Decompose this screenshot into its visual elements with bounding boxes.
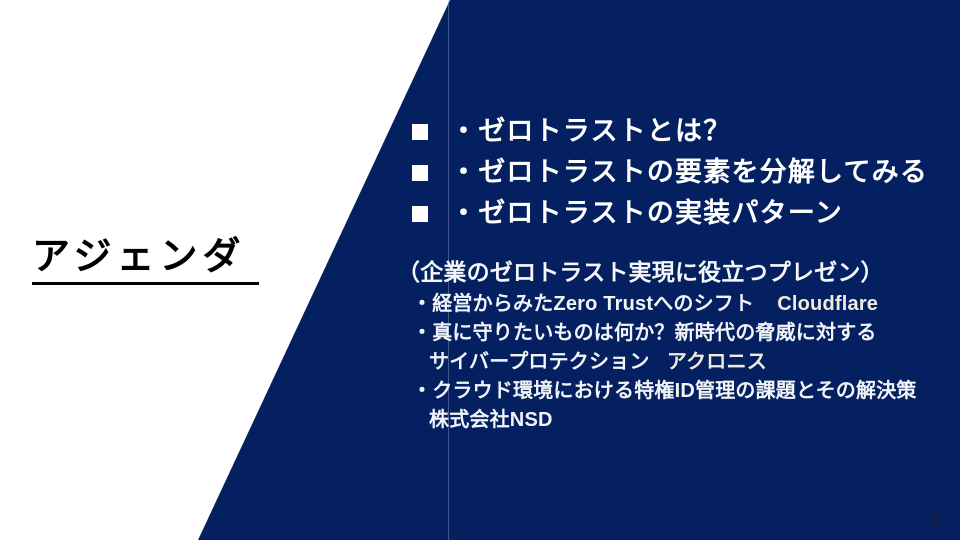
session-title-text: 株式会社NSD — [429, 409, 553, 431]
session-title-text: ・クラウド環境における特権ID管理の課題とその解決策 — [412, 380, 917, 402]
list-item-label: ・ゼロトラストとは？ — [450, 115, 731, 148]
session-vendor-name: Cloudflare — [777, 293, 878, 315]
session-title-line: ・クラウド環境における特権ID管理の課題とその解決策 — [412, 377, 957, 406]
sub-session-list: ・経営からみたZero Trustへのシフト Cloudflare ・真に守りた… — [412, 290, 957, 435]
session-title-text: ・真に守りたいものは何か？新時代の脅威に対する — [412, 322, 877, 344]
session-title-text: ・経営からみたZero Trustへのシフト — [412, 293, 754, 315]
session-title-text: サイバープロテクション — [429, 351, 650, 373]
list-item: ・経営からみたZero Trustへのシフト Cloudflare — [412, 290, 957, 319]
page-title: アジェンダ — [32, 234, 264, 280]
list-item: ・真に守りたいものは何か？新時代の脅威に対する サイバープロテクション アクロニ… — [412, 319, 957, 377]
session-title-line: ・経営からみたZero Trustへのシフト Cloudflare — [412, 290, 957, 319]
agenda-bullet-list: ・ゼロトラストとは？ ・ゼロトラストの要素を分解してみる ・ゼロトラストの実装パ… — [412, 115, 952, 238]
session-title-line-continued: 株式会社NSD — [412, 406, 957, 435]
square-bullet-icon — [412, 165, 428, 181]
slide-canvas: アジェンダ ・ゼロトラストとは？ ・ゼロトラストの要素を分解してみる ・ゼロトラ… — [0, 0, 960, 540]
session-title-line-continued: サイバープロテクション アクロニス — [412, 348, 957, 377]
list-item: ・ゼロトラストの要素を分解してみる — [412, 156, 952, 197]
session-title-line: ・真に守りたいものは何か？新時代の脅威に対する — [412, 319, 957, 348]
square-bullet-icon — [412, 124, 428, 140]
sub-section-header: （企業のゼロトラスト実現に役立つプレゼン） — [397, 253, 884, 287]
session-vendor-name: アクロニス — [667, 351, 767, 373]
page-number: 2 — [922, 508, 948, 531]
list-item: ・ゼロトラストの実装パターン — [412, 197, 952, 238]
list-item-label: ・ゼロトラストの要素を分解してみる — [450, 156, 928, 189]
list-item: ・クラウド環境における特権ID管理の課題とその解決策 株式会社NSD — [412, 377, 957, 435]
page-title-underline — [32, 282, 259, 285]
list-item-label: ・ゼロトラストの実装パターン — [450, 197, 843, 230]
square-bullet-icon — [412, 206, 428, 222]
list-item: ・ゼロトラストとは？ — [412, 115, 952, 156]
